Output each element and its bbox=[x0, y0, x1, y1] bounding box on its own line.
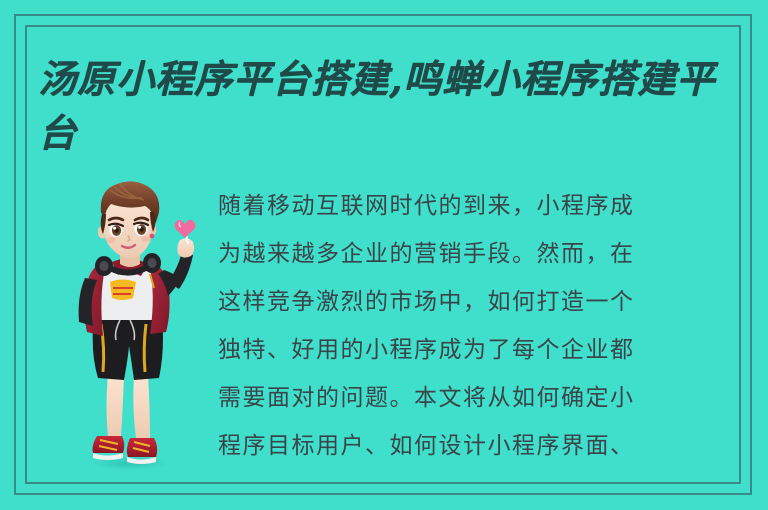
lollipop-heart bbox=[175, 220, 196, 238]
title-line-1: 汤原小程序平台搭建,鸣蝉小程序搭建平 bbox=[38, 52, 744, 106]
right-shoe bbox=[127, 438, 157, 464]
shorts-stripe-right bbox=[144, 324, 146, 372]
raised-arm bbox=[168, 252, 193, 289]
eye-highlight-left bbox=[113, 227, 116, 230]
hand bbox=[177, 238, 194, 257]
body-line-5: 需要面对的问题。本文将从如何确定小 bbox=[218, 374, 730, 422]
body-line-1: 随着移动互联网时代的到来，小程序成 bbox=[218, 182, 730, 230]
blush-right bbox=[141, 236, 151, 242]
body-line-4: 独特、好用的小程序成为了每个企业都 bbox=[218, 326, 730, 374]
article-banner: 汤原小程序平台搭建,鸣蝉小程序搭建平 台 bbox=[0, 0, 768, 510]
tshirt-graphic bbox=[110, 280, 136, 301]
left-leg bbox=[107, 374, 125, 436]
chibi-boy-illustration bbox=[68, 178, 198, 470]
title-line-2: 台 bbox=[38, 106, 744, 160]
headphone-cup-right-inner bbox=[148, 258, 157, 268]
page-title: 汤原小程序平台搭建,鸣蝉小程序搭建平 台 bbox=[38, 52, 744, 160]
headphone-cup-left-inner bbox=[100, 261, 109, 271]
body-line-6: 程序目标用户、如何设计小程序界面、 bbox=[218, 422, 730, 470]
article-body-text: 随着移动互联网时代的到来，小程序成 为越来越多企业的营销手段。然而，在 这样竞争… bbox=[218, 182, 730, 470]
eye-highlight-right bbox=[138, 226, 141, 229]
blush-left bbox=[106, 237, 116, 243]
right-leg bbox=[133, 376, 150, 438]
body-line-2: 为越来越多企业的营销手段。然而，在 bbox=[218, 230, 730, 278]
body-line-3: 这样竞争激烈的市场中，如何打造一个 bbox=[218, 278, 730, 326]
left-shoe bbox=[93, 436, 125, 460]
